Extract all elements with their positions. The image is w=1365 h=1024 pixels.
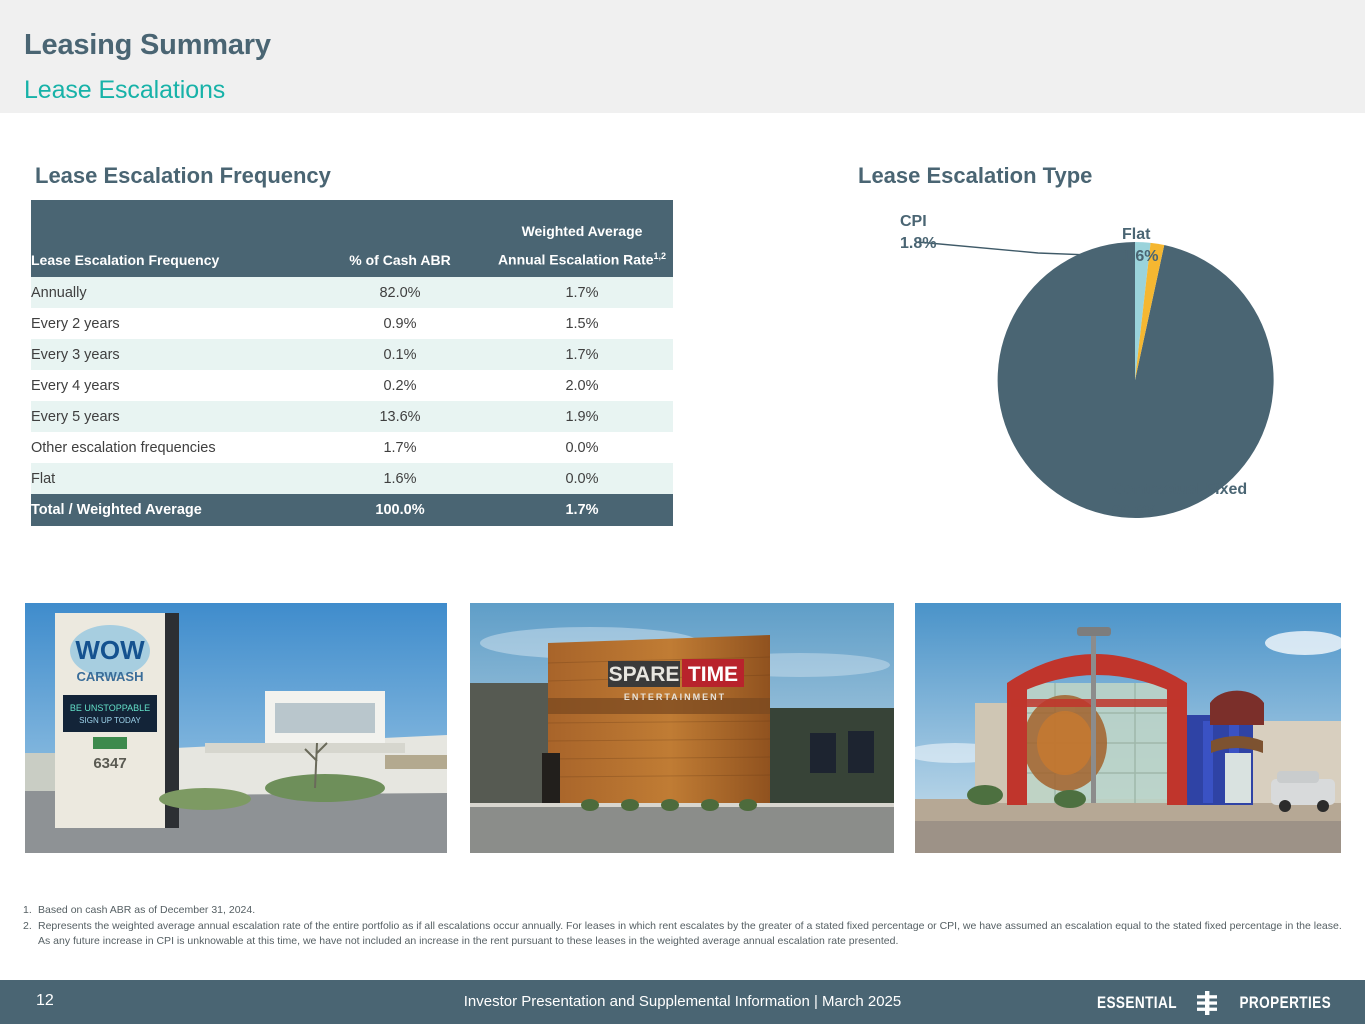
type-section-title: Lease Escalation Type [858, 163, 1092, 189]
cell-escalation-rate: 0.0% [491, 432, 673, 463]
table-body: Annually 82.0% 1.7% Every 2 years 0.9% 1… [31, 277, 673, 526]
cell-frequency: Every 2 years [31, 308, 309, 339]
photo-1-graphic: WOW CARWASH BE UNSTOPPABLE SIGN UP TODAY… [25, 603, 447, 853]
cell-cash-abr: 1.6% [309, 463, 491, 494]
column-header-escalation-rate: Weighted Average Annual Escalation Rate1… [491, 200, 673, 277]
cell-frequency: Every 3 years [31, 339, 309, 370]
cell-cash-abr: 1.7% [309, 432, 491, 463]
svg-text:WOW: WOW [75, 635, 145, 665]
cell-total-escalation-rate: 1.7% [491, 494, 673, 526]
table-total-row: Total / Weighted Average 100.0% 1.7% [31, 494, 673, 526]
cell-frequency: Every 5 years [31, 401, 309, 432]
page-title: Leasing Summary [24, 29, 271, 62]
page-subtitle: Lease Escalations [24, 76, 225, 105]
lease-escalation-frequency-table: Lease Escalation Frequency % of Cash ABR… [31, 200, 673, 526]
table-header: Lease Escalation Frequency % of Cash ABR… [31, 200, 673, 277]
cell-escalation-rate: 1.7% [491, 277, 673, 308]
cell-frequency: Every 4 years [31, 370, 309, 401]
cell-cash-abr: 0.2% [309, 370, 491, 401]
table-row: Flat 1.6% 0.0% [31, 463, 673, 494]
cell-cash-abr: 0.1% [309, 339, 491, 370]
property-photo-restaurant [915, 603, 1341, 853]
cell-cash-abr: 0.9% [309, 308, 491, 339]
column-header-cash-abr: % of Cash ABR [309, 200, 491, 277]
svg-text:CARWASH: CARWASH [77, 669, 144, 684]
svg-text:TIME: TIME [688, 663, 738, 686]
footnotes: 1. Based on cash ABR as of December 31, … [23, 903, 1343, 951]
pie-label-cpi-value: 1.8% [900, 233, 936, 255]
pie-label-flat-name: Flat [1122, 224, 1158, 246]
lease-escalation-frequency-table-wrapper: Lease Escalation Frequency % of Cash ABR… [31, 200, 673, 526]
pie-label-contractual-fixed-name: Contractual Fixed [1112, 479, 1247, 501]
pie-label-cpi: CPI 1.8% [900, 211, 936, 254]
cell-escalation-rate: 1.9% [491, 401, 673, 432]
lease-escalation-type-chart: CPI 1.8% Flat 1.6% Contractual Fixed 96.… [858, 195, 1348, 540]
footnote-marker: 1,2 [654, 251, 667, 261]
essential-properties-mark-icon [1194, 990, 1220, 1016]
footnote-2-text: Represents the weighted average annual e… [38, 919, 1343, 949]
column-header-frequency: Lease Escalation Frequency [31, 200, 309, 277]
column-header-escalation-rate-label: Annual Escalation Rate [498, 252, 654, 268]
svg-text:6347: 6347 [93, 755, 126, 772]
table-row: Every 5 years 13.6% 1.9% [31, 401, 673, 432]
table-row: Other escalation frequencies 1.7% 0.0% [31, 432, 673, 463]
pie-label-contractual-fixed: Contractual Fixed 96.6% [1112, 479, 1247, 522]
footnote-2: 2. Represents the weighted average annua… [23, 919, 1343, 949]
property-photo-spare-time: SPARE TIME ENTERTAINMENT [470, 603, 894, 853]
cell-escalation-rate: 2.0% [491, 370, 673, 401]
footnote-1: 1. Based on cash ABR as of December 31, … [23, 903, 1343, 918]
footnote-1-text: Based on cash ABR as of December 31, 202… [38, 903, 1343, 918]
pie-label-contractual-fixed-value: 96.6% [1112, 501, 1247, 523]
photo-3-graphic [915, 603, 1341, 853]
logo-text-essential: ESSENTIAL [1096, 993, 1176, 1013]
table-row: Every 2 years 0.9% 1.5% [31, 308, 673, 339]
photo-2-graphic: SPARE TIME ENTERTAINMENT [470, 603, 894, 853]
frequency-section-title: Lease Escalation Frequency [35, 163, 331, 189]
property-photo-wow-carwash: WOW CARWASH BE UNSTOPPABLE SIGN UP TODAY… [25, 603, 447, 853]
cell-total-label: Total / Weighted Average [31, 494, 309, 526]
table-row: Every 4 years 0.2% 2.0% [31, 370, 673, 401]
pie-label-flat-value: 1.6% [1122, 246, 1158, 268]
footnote-1-number: 1. [23, 903, 38, 918]
cell-frequency: Flat [31, 463, 309, 494]
cell-frequency: Annually [31, 277, 309, 308]
pie-label-cpi-name: CPI [900, 211, 936, 233]
svg-text:BE UNSTOPPABLE: BE UNSTOPPABLE [70, 703, 150, 713]
cell-total-cash-abr: 100.0% [309, 494, 491, 526]
table-row: Every 3 years 0.1% 1.7% [31, 339, 673, 370]
pie-label-flat: Flat 1.6% [1122, 224, 1158, 267]
cell-escalation-rate: 1.5% [491, 308, 673, 339]
table-header-row: Lease Escalation Frequency % of Cash ABR… [31, 200, 673, 277]
footnote-2-number: 2. [23, 919, 38, 949]
table-row: Annually 82.0% 1.7% [31, 277, 673, 308]
column-header-group-weighted-average: Weighted Average [491, 223, 673, 251]
cell-escalation-rate: 0.0% [491, 463, 673, 494]
cell-frequency: Other escalation frequencies [31, 432, 309, 463]
logo-text-properties: PROPERTIES [1240, 993, 1332, 1013]
cell-cash-abr: 13.6% [309, 401, 491, 432]
cell-escalation-rate: 1.7% [491, 339, 673, 370]
company-logo: ESSENTIAL PROPERTIES [1087, 990, 1344, 1016]
svg-text:SIGN UP TODAY: SIGN UP TODAY [79, 716, 141, 725]
svg-text:ENTERTAINMENT: ENTERTAINMENT [624, 692, 726, 702]
svg-text:SPARE: SPARE [609, 663, 680, 686]
cell-cash-abr: 82.0% [309, 277, 491, 308]
